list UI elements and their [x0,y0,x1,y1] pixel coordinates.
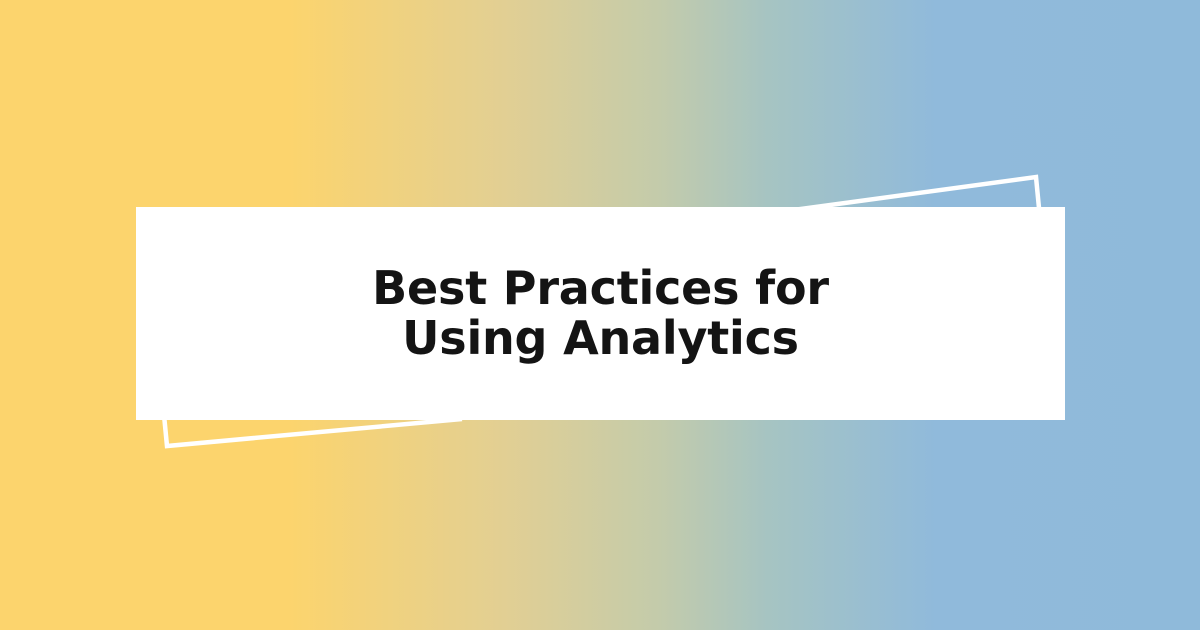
page-title-line-1: Best Practices for [372,261,829,315]
corner-accent-top-right-icon [786,177,1039,211]
title-banner: Best Practices forUsing Analytics [0,0,1200,630]
page-title-line-2: Using Analytics [402,311,799,365]
page-title: Best Practices forUsing Analytics [372,264,829,363]
title-card: Best Practices forUsing Analytics [136,207,1065,420]
